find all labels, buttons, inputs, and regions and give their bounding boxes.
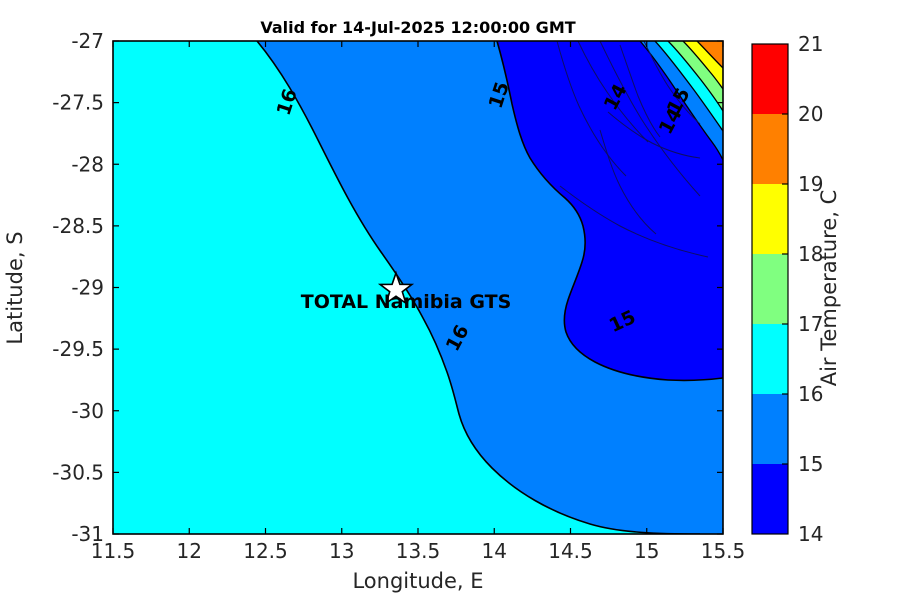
colorbar-band-16-17[interactable] <box>752 324 788 394</box>
x-tick-label: 14.5 <box>548 539 593 563</box>
y-tick-label: -27.5 <box>52 91 104 115</box>
x-tick-label: 14 <box>482 539 507 563</box>
x-axis-title: Longitude, E <box>352 569 483 593</box>
x-tick-label: 13.5 <box>396 539 441 563</box>
colorbar-title: Air Temperature, C <box>817 190 841 387</box>
y-tick-label: -30 <box>71 399 104 423</box>
y-tick-label: -29.5 <box>52 337 104 361</box>
colorbar[interactable]: 1415161718192021 <box>752 32 823 546</box>
colorbar-tick-label: 20 <box>798 102 823 126</box>
colorbar-band-15-16[interactable] <box>752 394 788 464</box>
colorbar-band-19-20[interactable] <box>752 114 788 184</box>
y-tick-label: -29 <box>71 276 104 300</box>
y-tick-label: -27 <box>71 29 104 53</box>
station-label: TOTAL Namibia GTS <box>301 291 512 313</box>
y-axis-title: Latitude, S <box>3 231 27 344</box>
colorbar-band-20-21[interactable] <box>752 44 788 114</box>
page-title: Valid for 14-Jul-2025 12:00:00 GMT <box>260 18 575 37</box>
colorbar-tick-label: 14 <box>798 522 823 546</box>
contour-fill-layer <box>113 41 723 534</box>
temperature-contour-figure: TOTAL Namibia GTS 16 15 14 15 14 16 15 1… <box>0 0 900 600</box>
x-tick-label: 15 <box>634 539 659 563</box>
y-tick-label: -30.5 <box>52 460 104 484</box>
y-tick-label: -31 <box>71 522 104 546</box>
colorbar-band-18-19[interactable] <box>752 184 788 254</box>
colorbar-band-14-15[interactable] <box>752 464 788 534</box>
x-tick-label: 12.5 <box>243 539 288 563</box>
x-tick-label: 12 <box>177 539 202 563</box>
figure-canvas: TOTAL Namibia GTS 16 15 14 15 14 16 15 1… <box>0 0 900 600</box>
y-tick-label: -28.5 <box>52 214 104 238</box>
y-tick-label: -28 <box>71 152 104 176</box>
colorbar-tick-label: 15 <box>798 452 823 476</box>
x-tick-label: 13 <box>329 539 354 563</box>
colorbar-band-17-18[interactable] <box>752 254 788 324</box>
colorbar-tick-label: 21 <box>798 32 823 56</box>
x-tick-label: 15.5 <box>701 539 746 563</box>
